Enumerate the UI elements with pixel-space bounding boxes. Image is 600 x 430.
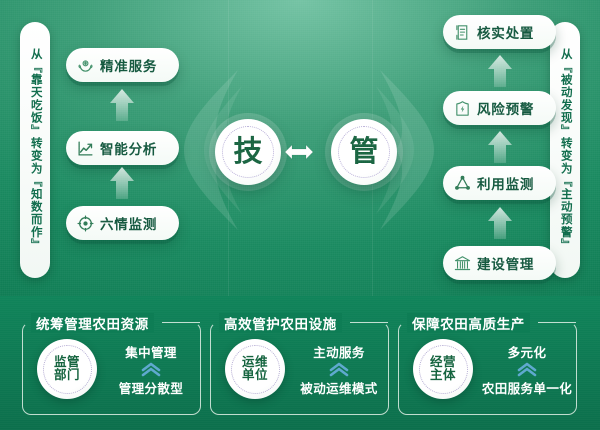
actor-circle-business-entity: 经营 主体: [413, 339, 473, 399]
right-banner-text: 从『被动发现』转变为『主动预警』: [558, 48, 572, 251]
actor-circle-regulator: 监管 部门: [37, 339, 97, 399]
tech-card-label: 六情监测: [100, 213, 157, 233]
panel-top-border-stub: [162, 322, 200, 323]
manage-card-label: 利用监测: [477, 173, 534, 193]
actor-dotted-ring: 经营 主体: [419, 345, 468, 394]
manage-card-label: 风险预警: [477, 98, 534, 118]
shield-bolt-icon: [454, 100, 471, 117]
target-crosshair-icon: [77, 215, 94, 232]
tech-card-intelligent-analysis[interactable]: 智能分析: [66, 131, 179, 165]
actor-dotted-ring: 监管 部门: [43, 345, 92, 394]
double-arrow-horizontal-icon: [284, 141, 314, 163]
hands-care-icon: [77, 57, 94, 74]
transition-target-state: 多元化: [508, 342, 547, 361]
left-banner-text: 从『靠天吃饭』转变为『知数而作』: [28, 48, 42, 251]
actor-label-line1: 监管: [54, 356, 80, 370]
chevron-double-up-icon: [517, 362, 537, 377]
manage-card-verify-handle[interactable]: 核实处置: [443, 15, 556, 49]
trend-chart-icon: [77, 140, 94, 157]
panel-title: 高效管护农田设施: [219, 313, 342, 333]
manage-card-utilization-monitoring[interactable]: 利用监测: [443, 166, 556, 200]
medallion-char: 技: [233, 138, 262, 167]
manage-card-construction-management[interactable]: 建设管理: [443, 246, 556, 280]
left-transition-banner: 从『靠天吃饭』转变为『知数而作』: [20, 22, 50, 278]
panel-top-border-stub: [350, 322, 388, 323]
flow-arrow-up-right-1: [487, 54, 513, 88]
actor-label-line1: 经营: [430, 356, 456, 370]
transition-source-state: 农田服务单一化: [482, 378, 572, 397]
actor-label-line1: 运维: [242, 356, 268, 370]
manage-card-label: 核实处置: [477, 22, 534, 42]
top-scene-background: 从『靠天吃饭』转变为『知数而作』 从『被动发现』转变为『主动预警』 精准服务: [0, 0, 600, 300]
bottom-panel-high-quality-production: 保障农田高质生产 经营 主体 多元化 农田服务单一化: [398, 322, 577, 415]
transition-block: 集中管理 管理分散型: [105, 342, 197, 397]
panel-title: 保障农田高质生产: [407, 313, 530, 333]
recycle-triangle-icon: [454, 175, 471, 192]
tech-card-label: 智能分析: [100, 138, 157, 158]
flow-arrow-up-left-2: [109, 166, 135, 200]
flow-arrow-up-right-2: [487, 130, 513, 164]
transition-source-state: 被动运维模式: [300, 378, 377, 397]
actor-label-line2: 单位: [242, 369, 268, 383]
center-medallion-management: 管: [331, 119, 397, 185]
actor-label-line2: 部门: [54, 369, 80, 383]
manage-card-label: 建设管理: [477, 253, 534, 273]
right-transition-banner: 从『被动发现』转变为『主动预警』: [550, 22, 580, 278]
chevron-double-up-icon: [141, 362, 161, 377]
chevron-double-up-icon: [329, 362, 349, 377]
tech-card-six-condition-monitoring[interactable]: 六情监测: [66, 206, 179, 240]
panel-title: 统筹管理农田资源: [31, 313, 154, 333]
transition-target-state: 主动服务: [313, 342, 365, 361]
bank-building-icon: [454, 255, 471, 272]
flow-arrow-up-right-3: [487, 206, 513, 240]
bottom-panel-facility-maintenance: 高效管护农田设施 运维 单位 主动服务 被动运维模式: [210, 322, 389, 415]
transition-block: 多元化 农田服务单一化: [481, 342, 573, 397]
panel-top-border-stub: [538, 322, 576, 323]
manage-card-risk-warning[interactable]: 风险预警: [443, 91, 556, 125]
tech-card-label: 精准服务: [100, 55, 157, 75]
transition-target-state: 集中管理: [125, 342, 177, 361]
transition-block: 主动服务 被动运维模式: [293, 342, 385, 397]
actor-label-line2: 主体: [430, 369, 456, 383]
medallion-char: 管: [349, 138, 378, 167]
center-medallion-tech: 技: [215, 119, 281, 185]
medallion-dotted-ring: 技: [222, 126, 274, 178]
actor-circle-operations-unit: 运维 单位: [225, 339, 285, 399]
medallion-dotted-ring: 管: [338, 126, 390, 178]
bottom-panel-farmland-resources: 统筹管理农田资源 监管 部门 集中管理 管理分散型: [22, 322, 201, 415]
transition-source-state: 管理分散型: [119, 378, 184, 397]
checklist-document-icon: [454, 24, 471, 41]
actor-dotted-ring: 运维 单位: [231, 345, 280, 394]
flow-arrow-up-left-1: [109, 88, 135, 122]
infographic-canvas: 从『靠天吃饭』转变为『知数而作』 从『被动发现』转变为『主动预警』 精准服务: [0, 0, 600, 430]
tech-card-precision-service[interactable]: 精准服务: [66, 48, 179, 82]
